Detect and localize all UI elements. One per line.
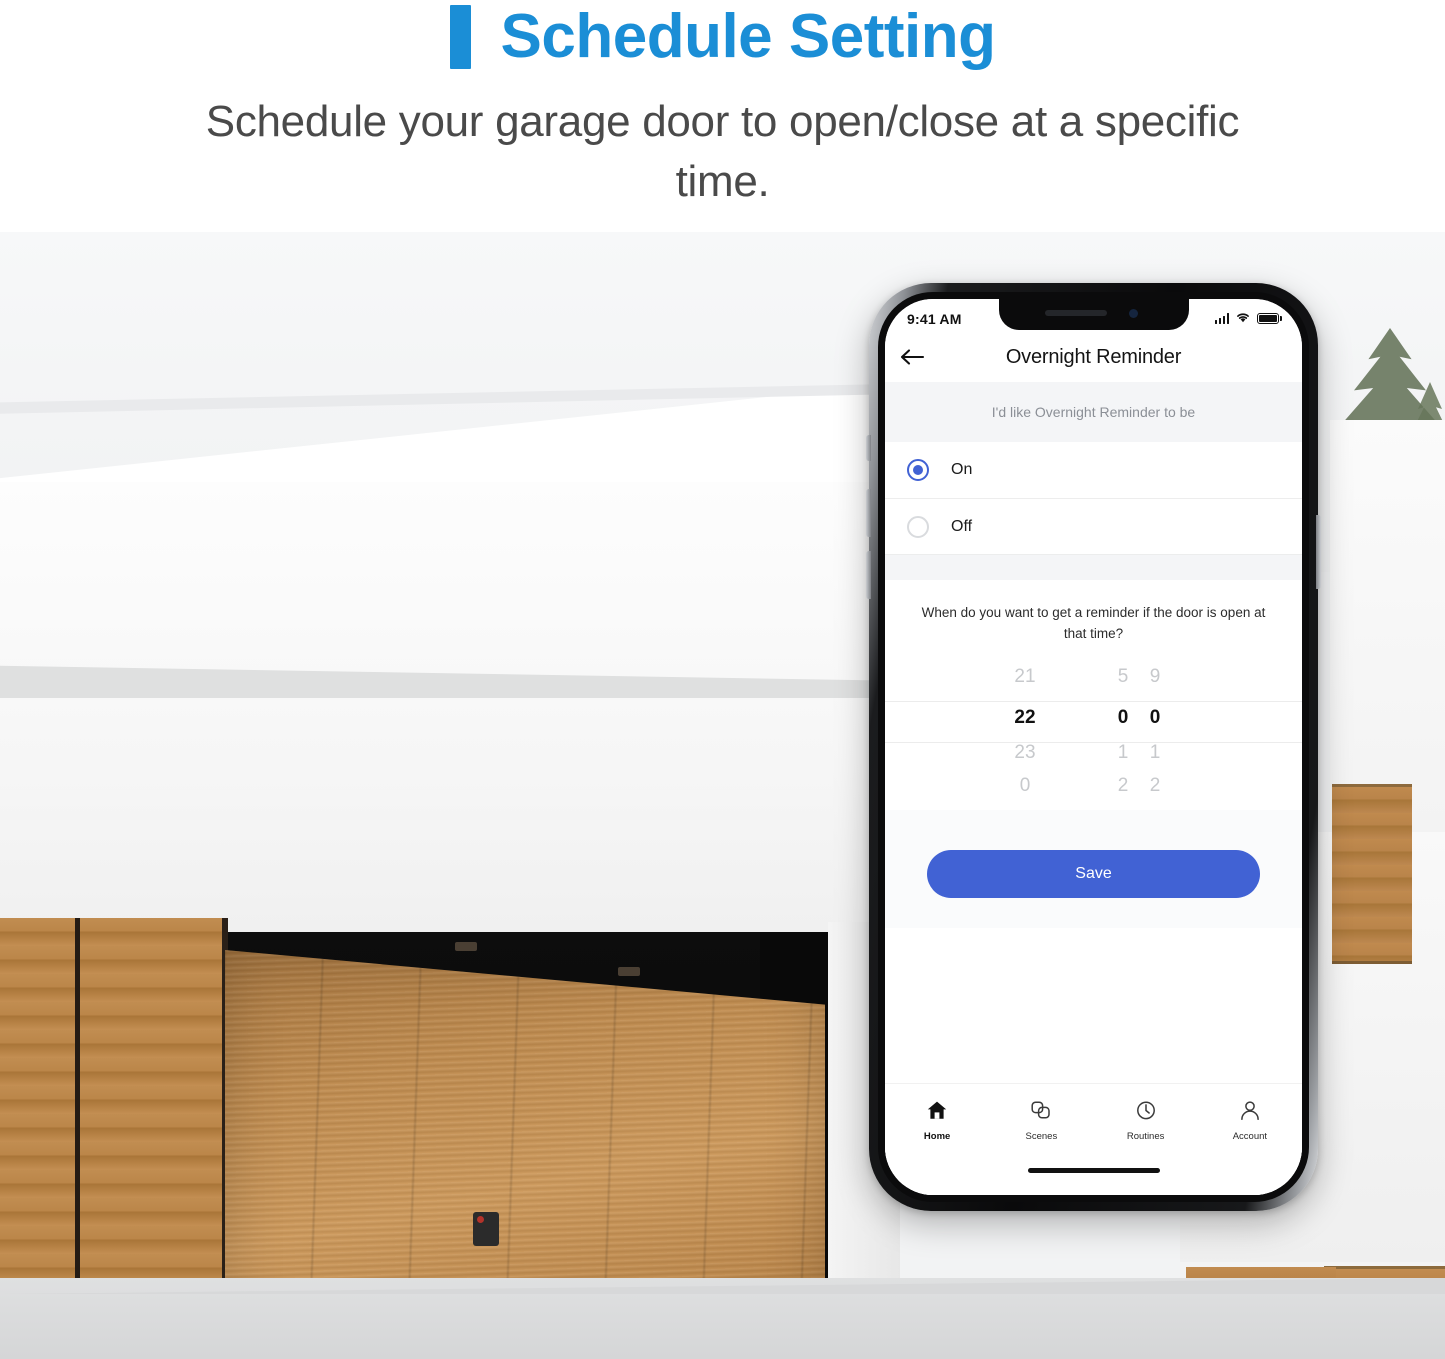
save-area: Save [885, 810, 1302, 928]
home-indicator[interactable] [1028, 1168, 1160, 1173]
option-row-on[interactable]: On [885, 442, 1302, 498]
tab-label-account: Account [1233, 1131, 1267, 1142]
section-spacer [885, 554, 1302, 580]
status-icons [1215, 310, 1283, 328]
tab-label-routines: Routines [1127, 1131, 1165, 1142]
picker-cell[interactable]: 2 [1125, 771, 1185, 804]
page-title: Schedule Setting [501, 2, 996, 72]
volume-up-button[interactable] [866, 489, 871, 537]
tab-routines[interactable]: Routines [1094, 1100, 1198, 1142]
person-icon [1239, 1100, 1261, 1126]
picker-cell[interactable]: 23 [995, 738, 1055, 771]
power-button[interactable] [1316, 515, 1321, 589]
screen-content: I'd like Overnight Reminder to be On Off… [885, 382, 1302, 1195]
picker-column-hours[interactable]: 21 22 23 0 [995, 656, 1055, 804]
phone-screen: 9:41 AM [885, 299, 1302, 1195]
silence-switch[interactable] [866, 435, 871, 461]
app-navigation-bar: Overnight Reminder [885, 332, 1302, 382]
scenes-icon [1030, 1100, 1052, 1126]
ceiling-light [455, 942, 477, 951]
prompt-band: I'd like Overnight Reminder to be [885, 382, 1302, 442]
option-label-off: Off [951, 518, 972, 536]
option-row-off[interactable]: Off [885, 498, 1302, 554]
page-subtitle: Schedule your garage door to open/close … [0, 92, 1445, 212]
phone-notch [999, 299, 1189, 330]
tab-home[interactable]: Home [885, 1100, 989, 1142]
tab-scenes[interactable]: Scenes [989, 1100, 1093, 1142]
content-filler [885, 928, 1302, 986]
clock-icon [1135, 1100, 1157, 1126]
picker-cell[interactable]: 0 [995, 771, 1055, 804]
tab-label-home: Home [924, 1131, 950, 1142]
back-arrow-icon[interactable] [885, 348, 941, 366]
picker-cell[interactable]: 21 [995, 656, 1055, 697]
earpiece-speaker [1045, 310, 1107, 316]
tab-account[interactable]: Account [1198, 1100, 1302, 1142]
picker-column-minutes-ones[interactable]: 9 0 1 2 [1125, 656, 1185, 804]
prompt-text: I'd like Overnight Reminder to be [992, 404, 1195, 420]
home-icon [926, 1100, 948, 1126]
picker-cell[interactable]: 9 [1125, 656, 1185, 697]
save-button[interactable]: Save [927, 850, 1260, 898]
garage-door-handle [473, 1212, 499, 1246]
screen-title: Overnight Reminder [941, 346, 1302, 369]
volume-down-button[interactable] [866, 551, 871, 599]
status-time: 9:41 AM [907, 311, 962, 327]
front-camera-icon [1129, 309, 1138, 318]
picker-cell-selected[interactable]: 0 [1125, 697, 1185, 738]
picker-cell-selected[interactable]: 22 [995, 697, 1055, 738]
accent-bar-icon [450, 5, 471, 69]
radio-off-icon[interactable] [907, 516, 929, 538]
bottom-tab-bar: Home Scenes [885, 1083, 1302, 1195]
page-header: Schedule Setting Schedule your garage do… [0, 0, 1445, 232]
picker-cell[interactable]: 1 [1125, 738, 1185, 771]
wood-panel [1332, 784, 1412, 964]
phone-mockup: 9:41 AM [869, 283, 1318, 1211]
radio-on-icon[interactable] [907, 459, 929, 481]
tab-label-scenes: Scenes [1026, 1131, 1058, 1142]
cellular-signal-icon [1215, 313, 1230, 324]
time-picker[interactable]: 21 22 23 0 5 0 1 2 9 0 1 2 [885, 656, 1302, 798]
ceiling-light [618, 967, 640, 976]
wifi-icon [1235, 310, 1251, 328]
house-facade [0, 482, 895, 962]
option-label-on: On [951, 461, 972, 479]
battery-icon [1257, 313, 1282, 324]
question-text: When do you want to get a reminder if th… [885, 580, 1302, 650]
title-row: Schedule Setting [0, 0, 1445, 72]
